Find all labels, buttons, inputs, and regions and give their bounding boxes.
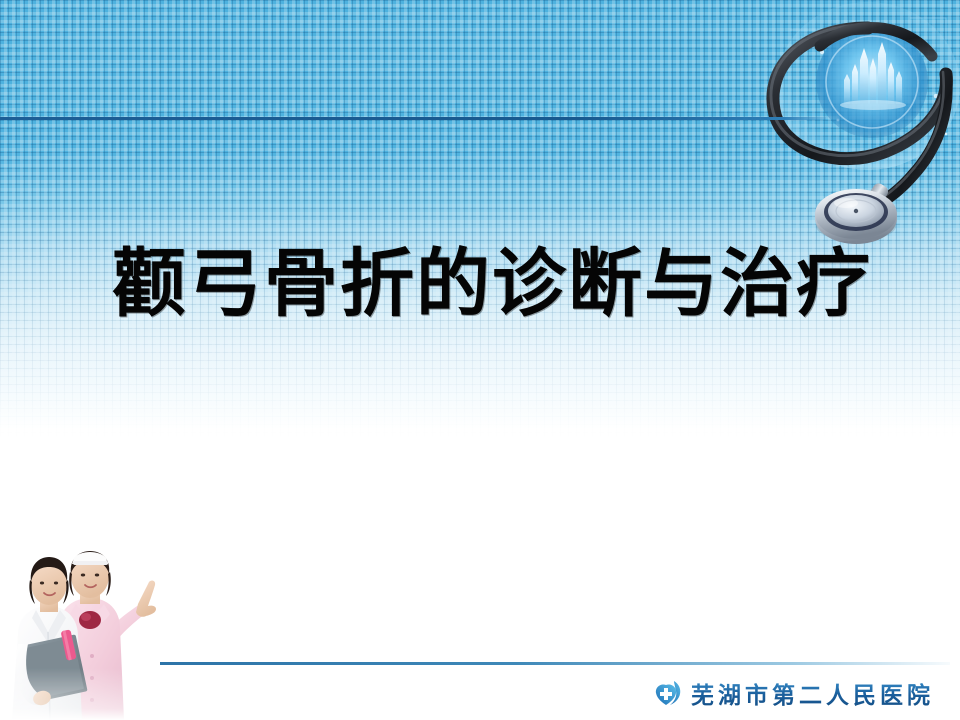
slide-title: 颧弓骨折的诊断与治疗 xyxy=(112,247,852,325)
stethoscope-illustration xyxy=(760,0,960,265)
header-divider-line xyxy=(0,117,826,120)
hospital-logo-icon xyxy=(652,678,682,708)
medical-staff-photo xyxy=(0,548,190,720)
hospital-name-text: 芜湖市第二人民医院 xyxy=(691,676,934,710)
footer-divider-line xyxy=(160,662,950,665)
presentation-slide: 颧弓骨折的诊断与治疗 xyxy=(0,0,960,720)
hospital-logo: 芜湖市第二人民医院 xyxy=(652,676,934,710)
